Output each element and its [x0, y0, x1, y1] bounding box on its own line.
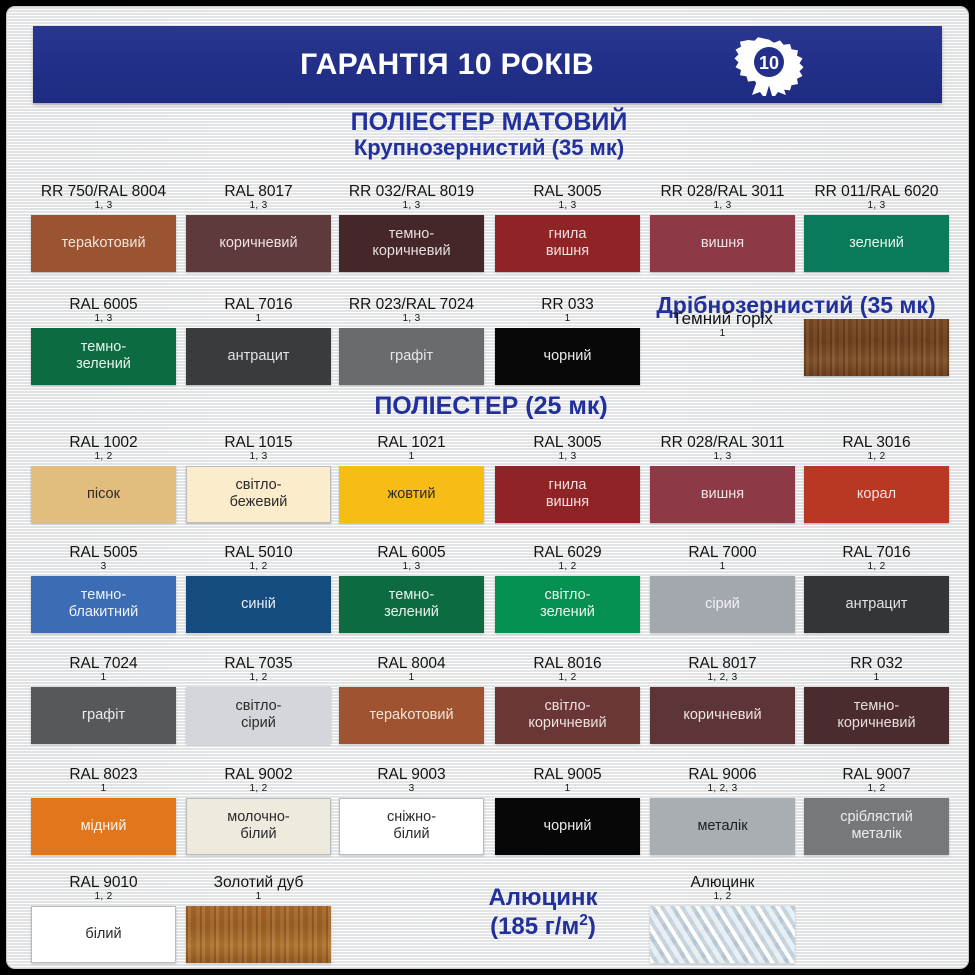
aluzinc-weight-post: ) [588, 913, 596, 940]
swatch-code: RR 028/RAL 30111, 3 [650, 184, 795, 212]
guarantee-banner: ГАРАНТІЯ 10 РОКІВ 10 [33, 26, 942, 103]
aluzinc-title: Алюцинк [488, 884, 597, 911]
swatch-chip[interactable]: сріблястийметалік [804, 798, 949, 855]
section-heading-aluzinc: Алюцинк (185 г/м2) [453, 884, 633, 940]
swatch-footnote: 1 [339, 452, 484, 463]
swatch-cell[interactable]: RR 750/RAL 80041, 3тераkотовий [31, 184, 176, 272]
matte-title: ПОЛІЕСТЕР МАТОВИЙ [351, 108, 628, 136]
swatch-cell[interactable]: RAL 30161, 2корал [804, 435, 949, 523]
swatch-code: RAL 80041 [339, 656, 484, 684]
swatch-label: темно-блакитний [65, 587, 142, 621]
swatch-cell[interactable]: RAL 70001сірий [650, 545, 795, 633]
swatch-cell[interactable]: RAL 10151, 3світло-бежевий [186, 435, 331, 523]
swatch-footnote: 1, 2, 3 [650, 784, 795, 795]
swatch-label: сірий [701, 596, 744, 613]
swatch-chip[interactable]: світло-сірий [186, 687, 331, 744]
aluzinc-weight-sup: 2 [579, 912, 588, 929]
swatch-chip[interactable]: пісок [31, 466, 176, 523]
swatch-cell[interactable]: RR 028/RAL 30111, 3вишня [650, 435, 795, 523]
guarantee-seal-icon: 10 [723, 34, 815, 96]
swatch-label: молочно-білий [223, 809, 294, 843]
swatch-code: RR 750/RAL 80041, 3 [31, 184, 176, 212]
swatch-cell[interactable]: RR 028/RAL 30111, 3вишня [650, 184, 795, 272]
swatch-footnote: 1, 3 [339, 201, 484, 212]
swatch-footnote: 1 [186, 892, 331, 903]
swatch-cell[interactable]: RR 0321темно-коричневий [804, 656, 949, 744]
swatch-cell[interactable]: RAL 80161, 2світло-коричневий [495, 656, 640, 744]
swatch-label: графіт [386, 348, 437, 365]
swatch-chip[interactable]: темно-зелений [339, 576, 484, 633]
swatch-cell[interactable]: RAL 70161антрацит [186, 297, 331, 385]
swatch-cell[interactable]: Алюцинк1, 2 [650, 875, 795, 963]
seal-number: 10 [759, 53, 779, 73]
swatch-cell[interactable]: RAL 90021, 2молочно-білий [186, 767, 331, 855]
swatch-footnote: 1 [31, 673, 176, 684]
swatch-code: RAL 80171, 3 [186, 184, 331, 212]
swatch-code: RR 028/RAL 30111, 3 [650, 435, 795, 463]
swatch-code: RAL 90101, 2 [31, 875, 176, 903]
swatch-code: RAL 30051, 3 [495, 435, 640, 463]
swatch-cell[interactable]: RR 011/RAL 60201, 3зелений [804, 184, 949, 272]
swatch-chip[interactable]: графіт [31, 687, 176, 744]
swatch-cell[interactable]: RR 0331чорний [495, 297, 640, 385]
swatch-chip[interactable]: гнилавишня [495, 215, 640, 272]
swatch-code: RAL 80171, 2, 3 [650, 656, 795, 684]
swatch-chip[interactable]: світло-бежевий [186, 466, 331, 523]
swatch-label: корал [853, 486, 900, 503]
swatch-chip[interactable]: коричневий [650, 687, 795, 744]
aluzinc-weight-pre: (185 г/м [490, 913, 579, 940]
swatch-label: коричневий [215, 235, 301, 252]
swatch-label: вишня [697, 486, 748, 503]
swatch-footnote: 1, 2 [31, 452, 176, 463]
swatch-footnote: 1, 3 [31, 201, 176, 212]
swatch-chip[interactable]: гнилавишня [495, 466, 640, 523]
swatch-cell[interactable]: RAL 60051, 3темно-зелений [339, 545, 484, 633]
swatch-cell[interactable]: RAL 80171, 3коричневий [186, 184, 331, 272]
swatch-cell[interactable]: RAL 90101, 2білий [31, 875, 176, 963]
swatch-footnote: 1, 2 [804, 452, 949, 463]
swatch-cell[interactable] [804, 297, 949, 376]
swatch-chip[interactable]: тераkотовий [339, 687, 484, 744]
swatch-footnote: 1, 3 [650, 201, 795, 212]
swatch-chip[interactable]: мідний [31, 798, 176, 855]
swatch-footnote: 3 [339, 784, 484, 795]
swatch-chip[interactable]: зелений [804, 215, 949, 272]
swatch-chip[interactable]: графіт [339, 328, 484, 385]
swatch-footnote: 1, 3 [495, 201, 640, 212]
swatch-label: сніжно-білий [383, 809, 440, 843]
swatch-code: RAL 50101, 2 [186, 545, 331, 573]
swatch-chip[interactable]: металік [650, 798, 795, 855]
swatch-chip[interactable]: тераkотовий [31, 215, 176, 272]
swatch-code: RAL 90061, 2, 3 [650, 767, 795, 795]
swatch-code: Темний горіх1 [650, 310, 795, 339]
swatch-footnote: 1, 3 [31, 314, 176, 325]
swatch-footnote: 1, 2 [650, 892, 795, 903]
swatch-cell[interactable]: Золотий дуб1 [186, 875, 331, 963]
swatch-cell[interactable]: RAL 90051чорний [495, 767, 640, 855]
swatch-cell[interactable]: RAL 80041тераkотовий [339, 656, 484, 744]
swatch-footnote: 1, 2 [31, 892, 176, 903]
swatch-chip[interactable]: чорний [495, 328, 640, 385]
section-heading-matte: ПОЛІЕСТЕР МАТОВИЙ Крупнозернистий (35 мк… [189, 109, 789, 160]
swatch-chip[interactable]: темно-коричневий [339, 215, 484, 272]
swatch-label: світло-зелений [536, 587, 599, 621]
swatch-footnote: 1, 3 [804, 201, 949, 212]
swatch-chip[interactable]: чорний [495, 798, 640, 855]
swatch-footnote: 1, 2, 3 [650, 673, 795, 684]
color-chart-card: ГАРАНТІЯ 10 РОКІВ 10 ПОЛІЕСТЕР МАТОВИЙ К… [6, 6, 969, 969]
swatch-label: світло-сірий [231, 698, 285, 732]
swatch-code: RR 011/RAL 60201, 3 [804, 184, 949, 212]
aluzinc-weight: (185 г/м2) [453, 912, 633, 941]
swatch-code: RAL 90021, 2 [186, 767, 331, 795]
swatch-cell[interactable]: RAL 10021, 2пісок [31, 435, 176, 523]
swatch-label: чорний [540, 818, 596, 835]
swatch-label: графіт [78, 707, 129, 724]
swatch-cell[interactable]: RR 032/RAL 80191, 3темно-коричневий [339, 184, 484, 272]
swatch-cell[interactable]: RAL 80231мідний [31, 767, 176, 855]
swatch-chip[interactable]: темно-блакитний [31, 576, 176, 633]
swatch-code: RAL 30051, 3 [495, 184, 640, 212]
swatch-cell[interactable]: RAL 30051, 3гнилавишня [495, 435, 640, 523]
swatch-chip[interactable]: жовтий [339, 466, 484, 523]
swatch-code: RAL 60051, 3 [31, 297, 176, 325]
swatch-code: RR 0321 [804, 656, 949, 684]
swatch-code: Алюцинк1, 2 [650, 875, 795, 903]
swatch-code: RAL 10151, 3 [186, 435, 331, 463]
swatch-code: RAL 90071, 2 [804, 767, 949, 795]
swatch-label: вишня [697, 235, 748, 252]
swatch-label: мідний [77, 818, 131, 835]
swatch-code: RAL 10021, 2 [31, 435, 176, 463]
swatch-code: RAL 70351, 2 [186, 656, 331, 684]
swatch-code: RAL 10211 [339, 435, 484, 463]
swatch-footnote: 1, 2 [804, 784, 949, 795]
swatch-label: чорний [540, 348, 596, 365]
swatch-cell[interactable]: RAL 80171, 2, 3коричневий [650, 656, 795, 744]
swatch-footnote: 3 [31, 562, 176, 573]
swatch-label: темно-зелений [72, 339, 135, 373]
swatch-footnote: 1 [339, 673, 484, 684]
swatch-cell[interactable]: RAL 70161, 2антрацит [804, 545, 949, 633]
swatch-code: RAL 60051, 3 [339, 545, 484, 573]
swatch-footnote: 1, 3 [186, 201, 331, 212]
swatch-label: зелений [845, 235, 908, 252]
swatch-code: RAL 80161, 2 [495, 656, 640, 684]
swatch-chip[interactable]: сніжно-білий [339, 798, 484, 855]
swatch-chip[interactable]: білий [31, 906, 176, 963]
swatch-cell[interactable]: RAL 90061, 2, 3металік [650, 767, 795, 855]
swatch-label: жовтий [384, 486, 440, 503]
swatch-footnote: 1, 3 [650, 452, 795, 463]
swatch-cell[interactable]: RAL 50053темно-блакитний [31, 545, 176, 633]
swatch-code: Золотий дуб1 [186, 875, 331, 903]
swatch-code: RAL 80231 [31, 767, 176, 795]
swatch-chip[interactable]: корал [804, 466, 949, 523]
swatch-label: світло-коричневий [524, 698, 610, 732]
swatch-label: білий [81, 926, 125, 943]
swatch-label: синій [237, 596, 280, 613]
swatch-label: гнилавишня [542, 226, 593, 260]
swatch-footnote: 1 [650, 329, 795, 340]
swatch-footnote: 1, 2 [186, 673, 331, 684]
swatch-code: RAL 70161 [186, 297, 331, 325]
swatch-footnote: 1, 3 [339, 314, 484, 325]
swatch-chip[interactable]: антрацит [186, 328, 331, 385]
swatch-chip[interactable]: коричневий [186, 215, 331, 272]
swatch-footnote: 1, 2 [804, 562, 949, 573]
swatch-label: світло-бежевий [226, 477, 292, 511]
swatch-code: RAL 90033 [339, 767, 484, 795]
swatch-chip[interactable]: темно-коричневий [804, 687, 949, 744]
swatch-cell[interactable]: RAL 90033сніжно-білий [339, 767, 484, 855]
swatch-code: RAL 70161, 2 [804, 545, 949, 573]
swatch-label: тераkотовий [57, 235, 149, 252]
swatch-label: антрацит [224, 348, 294, 365]
polyester-title: ПОЛІЕСТЕР (25 мк) [374, 392, 607, 420]
swatch-chip[interactable]: темно-зелений [31, 328, 176, 385]
swatch-chip[interactable]: антрацит [804, 576, 949, 633]
swatch-footnote: 1 [650, 562, 795, 573]
swatch-footnote: 1, 2 [186, 784, 331, 795]
swatch-code: RAL 70001 [650, 545, 795, 573]
swatch-chip[interactable] [804, 319, 949, 376]
swatch-label: темно-коричневий [368, 226, 454, 260]
swatch-code: RAL 70241 [31, 656, 176, 684]
swatch-footnote: 1, 3 [186, 452, 331, 463]
swatch-cell[interactable]: RAL 50101, 2синій [186, 545, 331, 633]
swatch-code: RAL 60291, 2 [495, 545, 640, 573]
swatch-footnote: 1 [495, 314, 640, 325]
swatch-chip[interactable]: світло-коричневий [495, 687, 640, 744]
swatch-cell[interactable]: RAL 90071, 2сріблястийметалік [804, 767, 949, 855]
swatch-footnote: 1 [804, 673, 949, 684]
section-heading-polyester: ПОЛІЕСТЕР (25 мк) [256, 393, 726, 420]
swatch-code: RAL 90051 [495, 767, 640, 795]
swatch-label: гнилавишня [542, 477, 593, 511]
swatch-code: RR 0331 [495, 297, 640, 325]
swatch-chip[interactable] [186, 906, 331, 963]
swatch-chip[interactable]: вишня [650, 466, 795, 523]
swatch-chip[interactable]: молочно-білий [186, 798, 331, 855]
swatch-chip[interactable]: вишня [650, 215, 795, 272]
swatch-chip[interactable] [650, 906, 795, 963]
swatch-footnote: 1 [31, 784, 176, 795]
swatch-footnote: 1, 2 [495, 673, 640, 684]
swatch-label: пісок [83, 486, 124, 503]
swatch-label: темно-коричневий [833, 698, 919, 732]
swatch-code: RR 023/RAL 70241, 3 [339, 297, 484, 325]
swatch-cell[interactable]: RAL 30051, 3гнилавишня [495, 184, 640, 272]
swatch-chip[interactable]: синій [186, 576, 331, 633]
swatch-cell[interactable]: RAL 70351, 2світло-сірий [186, 656, 331, 744]
swatch-cell[interactable]: RAL 70241графіт [31, 656, 176, 744]
swatch-cell[interactable]: RAL 10211жовтий [339, 435, 484, 523]
swatch-cell[interactable]: RR 023/RAL 70241, 3графіт [339, 297, 484, 385]
swatch-label: металік [693, 818, 751, 835]
swatch-chip[interactable]: світло-зелений [495, 576, 640, 633]
swatch-cell[interactable]: RAL 60291, 2світло-зелений [495, 545, 640, 633]
swatch-code: RR 032/RAL 80191, 3 [339, 184, 484, 212]
swatch-footnote: 1, 2 [495, 562, 640, 573]
swatch-cell[interactable]: RAL 60051, 3темно-зелений [31, 297, 176, 385]
swatch-code: RAL 30161, 2 [804, 435, 949, 463]
swatch-footnote: 1, 2 [186, 562, 331, 573]
swatch-code: RAL 50053 [31, 545, 176, 573]
swatch-label: сріблястийметалік [836, 809, 917, 843]
swatch-chip[interactable]: сірий [650, 576, 795, 633]
swatch-footnote: 1, 3 [495, 452, 640, 463]
swatch-footnote: 1 [186, 314, 331, 325]
swatch-label: антрацит [842, 596, 912, 613]
swatch-footnote: 1, 3 [339, 562, 484, 573]
swatch-label: коричневий [679, 707, 765, 724]
swatch-label: тераkотовий [365, 707, 457, 724]
swatch-label: темно-зелений [380, 587, 443, 621]
swatch-footnote: 1 [495, 784, 640, 795]
matte-subtitle: Крупнозернистий (35 мк) [189, 136, 789, 160]
swatch-cell[interactable]: Темний горіх1 [650, 297, 795, 339]
